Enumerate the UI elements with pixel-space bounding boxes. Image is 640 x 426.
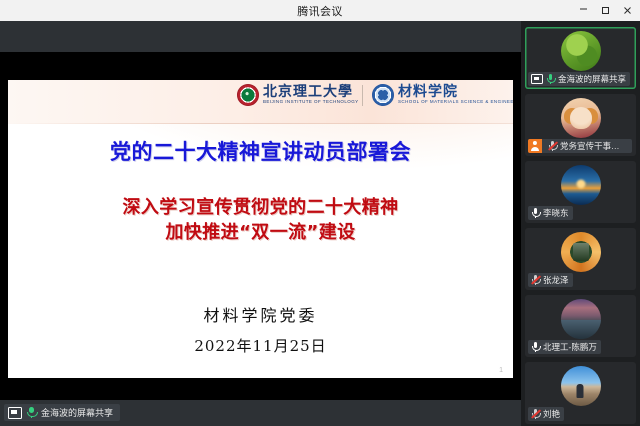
participant-label: 张龙泽 (528, 273, 573, 287)
participant-label: 北理工-陈鹏万 (528, 340, 601, 354)
slide-main-title: 党的二十大精神宣讲动员部署会 (8, 136, 513, 166)
share-status-label: 金海波的屏幕共享 (41, 406, 113, 419)
bit-logo-cn: 北京理工大學 (263, 85, 353, 99)
participant-label: 刘艳 (528, 407, 564, 421)
participant-tile[interactable]: 刘艳 (525, 362, 636, 424)
minimize-button[interactable] (572, 0, 594, 22)
participant-name: 北理工-陈鹏万 (543, 341, 597, 353)
slide-date: 2022年11月25日 (8, 335, 513, 356)
participant-label: 党务宣传干事—牟雪娇 (528, 139, 632, 153)
window-controls (572, 0, 638, 21)
participant-name: 张龙泽 (543, 274, 569, 286)
microphone-muted-icon (531, 409, 540, 420)
stage-top-bar (0, 21, 521, 52)
avatar (561, 232, 601, 272)
materials-logo-cn: 材料学院 (398, 85, 501, 99)
bit-logo: 北京理工大學 BEIJING INSTITUTE OF TECHNOLOGY (237, 84, 353, 106)
participant-name: 金海波的屏幕共享 (558, 73, 626, 85)
window-title-bar: 腾讯会议 (0, 0, 640, 22)
participant-label: 李晓东 (528, 206, 573, 220)
avatar (561, 299, 601, 339)
avatar (561, 165, 601, 205)
participant-name: 李晓东 (543, 207, 569, 219)
screen-share-icon (8, 407, 22, 419)
share-status-pill: 金海波的屏幕共享 (4, 404, 120, 421)
participant-tile[interactable]: 北理工-陈鹏万 (525, 295, 636, 357)
microphone-icon (26, 407, 37, 419)
shared-screen-stage[interactable]: 北京理工大學 BEIJING INSTITUTE OF TECHNOLOGY 材… (0, 21, 521, 426)
participant-tile[interactable]: 金海波的屏幕共享 (525, 27, 636, 89)
slide-organization: 材料学院党委 (8, 302, 513, 326)
slide-logos: 北京理工大學 BEIJING INSTITUTE OF TECHNOLOGY 材… (237, 84, 501, 106)
host-badge-icon (528, 139, 542, 153)
slide-subtitle: 深入学习宣传贯彻党的二十大精神 加快推进“双一流”建设 (8, 195, 513, 245)
avatar (561, 31, 601, 71)
presentation-slide: 北京理工大學 BEIJING INSTITUTE OF TECHNOLOGY 材… (8, 80, 513, 378)
tencent-meeting-window: 腾讯会议 北京理工大學 BEIJING INSTI (0, 0, 640, 426)
participant-label: 金海波的屏幕共享 (528, 72, 630, 86)
avatar (561, 366, 601, 406)
microphone-muted-icon (548, 141, 557, 152)
participant-tile[interactable]: 张龙泽 (525, 228, 636, 290)
maximize-button[interactable] (594, 1, 616, 20)
participant-tile[interactable]: 李晓东 (525, 161, 636, 223)
window-title: 腾讯会议 (297, 3, 343, 19)
participant-tile[interactable]: 党务宣传干事—牟雪娇 (525, 94, 636, 156)
microphone-icon (546, 74, 555, 85)
slide-subtitle-line2: 加快推进“双一流”建设 (8, 220, 513, 245)
microphone-muted-icon (531, 275, 540, 286)
bit-logo-en: BEIJING INSTITUTE OF TECHNOLOGY (263, 101, 376, 105)
participant-name: 党务宣传干事—牟雪娇 (560, 140, 628, 152)
participant-name: 刘艳 (543, 408, 560, 420)
share-status-bar: 金海波的屏幕共享 (0, 400, 521, 426)
materials-logo-en: SCHOOL OF MATERIALS SCIENCE & ENGINEERIN… (398, 101, 513, 105)
materials-seal-icon (372, 84, 394, 106)
materials-school-logo: 材料学院 SCHOOL OF MATERIALS SCIENCE & ENGIN… (372, 84, 501, 106)
slide-page-number: 1 (499, 367, 503, 374)
microphone-icon (531, 208, 540, 219)
participant-sidebar[interactable]: 金海波的屏幕共享 党务宣传干事—牟雪娇 李晓东 (521, 21, 640, 426)
close-button[interactable] (616, 1, 638, 20)
avatar (561, 98, 601, 138)
slide-subtitle-line1: 深入学习宣传贯彻党的二十大精神 (8, 195, 513, 220)
bit-seal-icon (237, 84, 259, 106)
stage-letterbox (0, 52, 521, 80)
screen-share-icon (531, 74, 543, 84)
microphone-icon (531, 342, 540, 353)
